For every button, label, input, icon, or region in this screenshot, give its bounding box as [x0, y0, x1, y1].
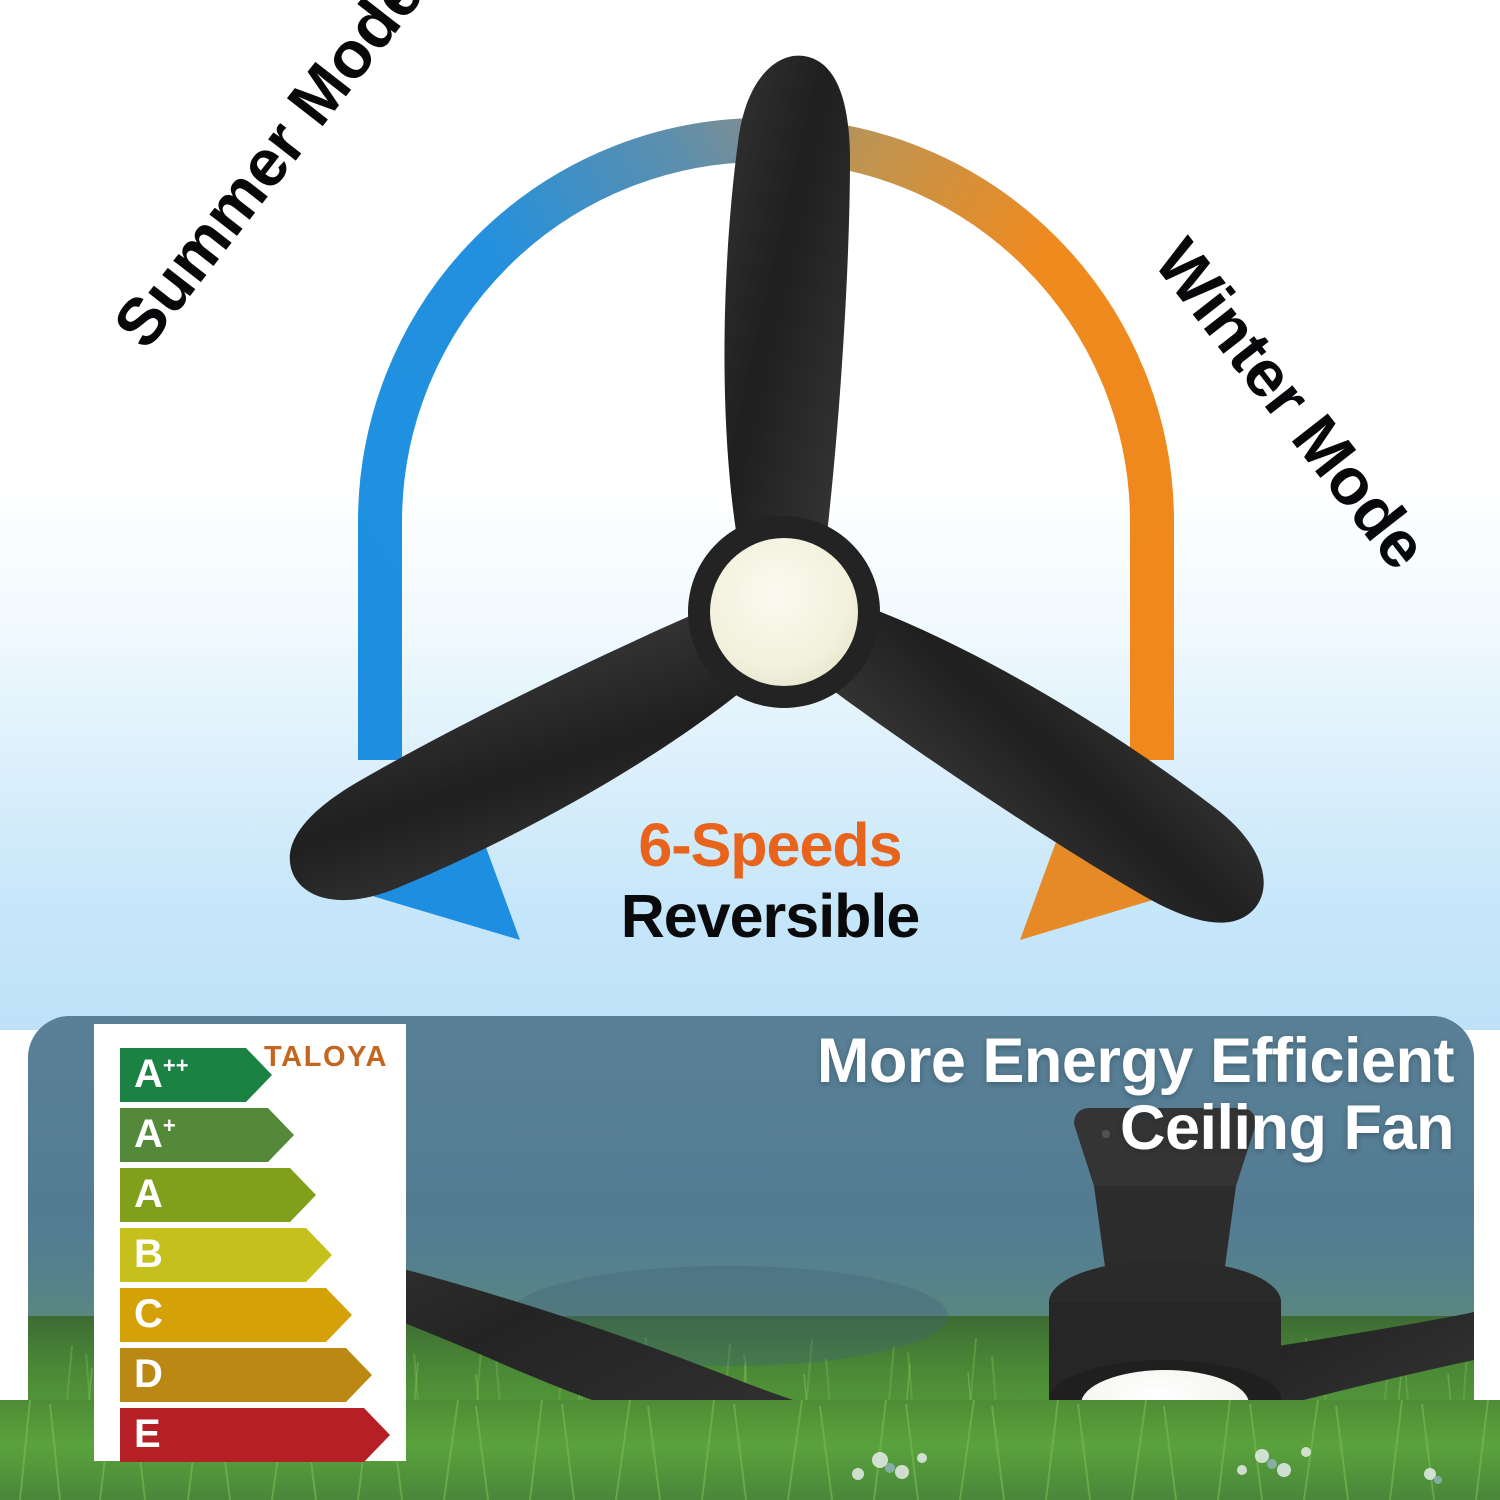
energy-grade-label: A [134, 1174, 163, 1214]
feature-caption-block: 6-Speeds Reversible [560, 815, 980, 950]
energy-grade-label: E [134, 1414, 161, 1454]
energy-grade-row: B [120, 1228, 390, 1282]
energy-grade-label: C [134, 1294, 163, 1334]
product-infographic: Summer Mode Winter Mode 6-Speeds Reversi… [0, 0, 1500, 1500]
fan-light-icon [710, 538, 858, 686]
energy-grade-row: E [120, 1408, 390, 1462]
energy-grade-superscript: ++ [163, 1053, 189, 1078]
energy-grade-label: B [134, 1234, 163, 1274]
energy-grade-row: D [120, 1348, 390, 1402]
energy-grade-row: A+ [120, 1108, 390, 1162]
energy-grade-label: A++ [134, 1054, 189, 1094]
energy-grade-superscript: + [163, 1113, 176, 1138]
energy-grade-row: A++ [120, 1048, 390, 1102]
energy-grade-row: A [120, 1168, 390, 1222]
headline-line-2: Ceiling Fan [634, 1095, 1454, 1162]
energy-grade-label: D [134, 1354, 163, 1394]
energy-grade-list: A++A+ABCDE [120, 1048, 390, 1468]
speeds-caption: 6-Speeds [560, 815, 980, 876]
panel-headline: More Energy Efficient Ceiling Fan [634, 1028, 1454, 1162]
energy-grade-label: A+ [134, 1114, 176, 1154]
energy-label-card: TALOYA A++A+ABCDE [94, 1024, 406, 1461]
headline-line-1: More Energy Efficient [817, 1026, 1454, 1096]
energy-grade-row: C [120, 1288, 390, 1342]
reversible-caption: Reversible [560, 882, 980, 950]
